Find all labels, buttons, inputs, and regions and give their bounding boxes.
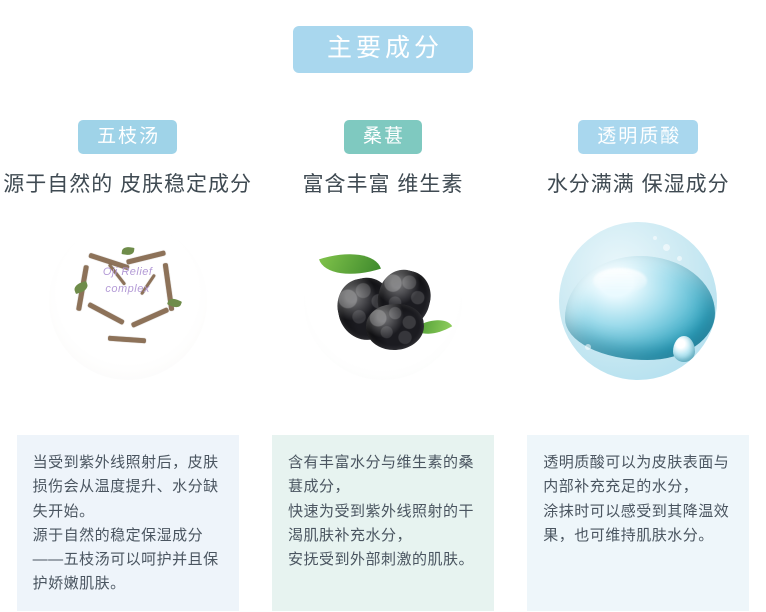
note-cell-3: 透明质酸可以为皮肤表面与内部补充充足的水分， 涂抹时可以感受到其降温效果，也可维… bbox=[511, 435, 766, 611]
ingredient-name-1: 五枝汤 bbox=[78, 120, 177, 154]
ingredient-desc-1: 源于自然的 皮肤稳定成分 bbox=[3, 170, 252, 200]
ingredient-column-2: 桑葚 富含丰富 维生素 bbox=[255, 120, 510, 380]
mulberry-image bbox=[304, 222, 462, 380]
ingredient-name-3: 透明质酸 bbox=[578, 120, 698, 154]
bubble-icon bbox=[677, 256, 682, 261]
bubble-icon bbox=[663, 244, 670, 251]
ingredient-note-1: 当受到紫外线照射后，皮肤损伤会从温度提升、水分缺失开始。 源于自然的稳定保湿成分… bbox=[17, 435, 239, 611]
ingredient-image-wrap-2 bbox=[304, 222, 462, 380]
ingredient-image-wrap-3 bbox=[559, 222, 717, 380]
page-title: 主要成分 bbox=[293, 26, 473, 73]
note-cell-2: 含有丰富水分与维生素的桑葚成分， 快速为受到紫外线照射的干渴肌肤补充水分， 安抚… bbox=[255, 435, 510, 611]
ingredient-notes: 当受到紫外线照射后，皮肤损伤会从温度提升、水分缺失开始。 源于自然的稳定保湿成分… bbox=[0, 435, 766, 611]
twig-frame-image: Oji Relief complex bbox=[49, 222, 207, 380]
main-title-row: 主要成分 bbox=[0, 26, 766, 73]
ingredient-note-2: 含有丰富水分与维生素的桑葚成分， 快速为受到紫外线照射的干渴肌肤补充水分， 安抚… bbox=[272, 435, 494, 611]
ingredient-image-wrap-1: Oji Relief complex bbox=[49, 222, 207, 380]
water-droplet-icon bbox=[673, 336, 695, 362]
ingredients-infographic: 主要成分 五枝汤 源于自然的 皮肤稳定成分 bbox=[0, 0, 766, 612]
berry-shape bbox=[364, 302, 425, 352]
water-drop-image bbox=[559, 222, 717, 380]
ingredient-name-2: 桑葚 bbox=[344, 120, 422, 154]
note-cell-1: 当受到紫外线照射后，皮肤损伤会从温度提升、水分缺失开始。 源于自然的稳定保湿成分… bbox=[0, 435, 255, 611]
oji-relief-complex-caption: Oji Relief complex bbox=[49, 264, 207, 297]
bubble-icon bbox=[585, 344, 591, 350]
ingredient-columns: 五枝汤 源于自然的 皮肤稳定成分 bbox=[0, 120, 766, 380]
ingredient-column-1: 五枝汤 源于自然的 皮肤稳定成分 bbox=[0, 120, 255, 380]
bubble-icon bbox=[653, 236, 657, 240]
ingredient-desc-3: 水分满满 保湿成分 bbox=[547, 170, 730, 200]
ingredient-desc-2: 富含丰富 维生素 bbox=[303, 170, 464, 200]
ingredient-column-3: 透明质酸 水分满满 保湿成分 bbox=[511, 120, 766, 380]
ingredient-note-3: 透明质酸可以为皮肤表面与内部补充充足的水分， 涂抹时可以感受到其降温效果，也可维… bbox=[527, 435, 749, 611]
